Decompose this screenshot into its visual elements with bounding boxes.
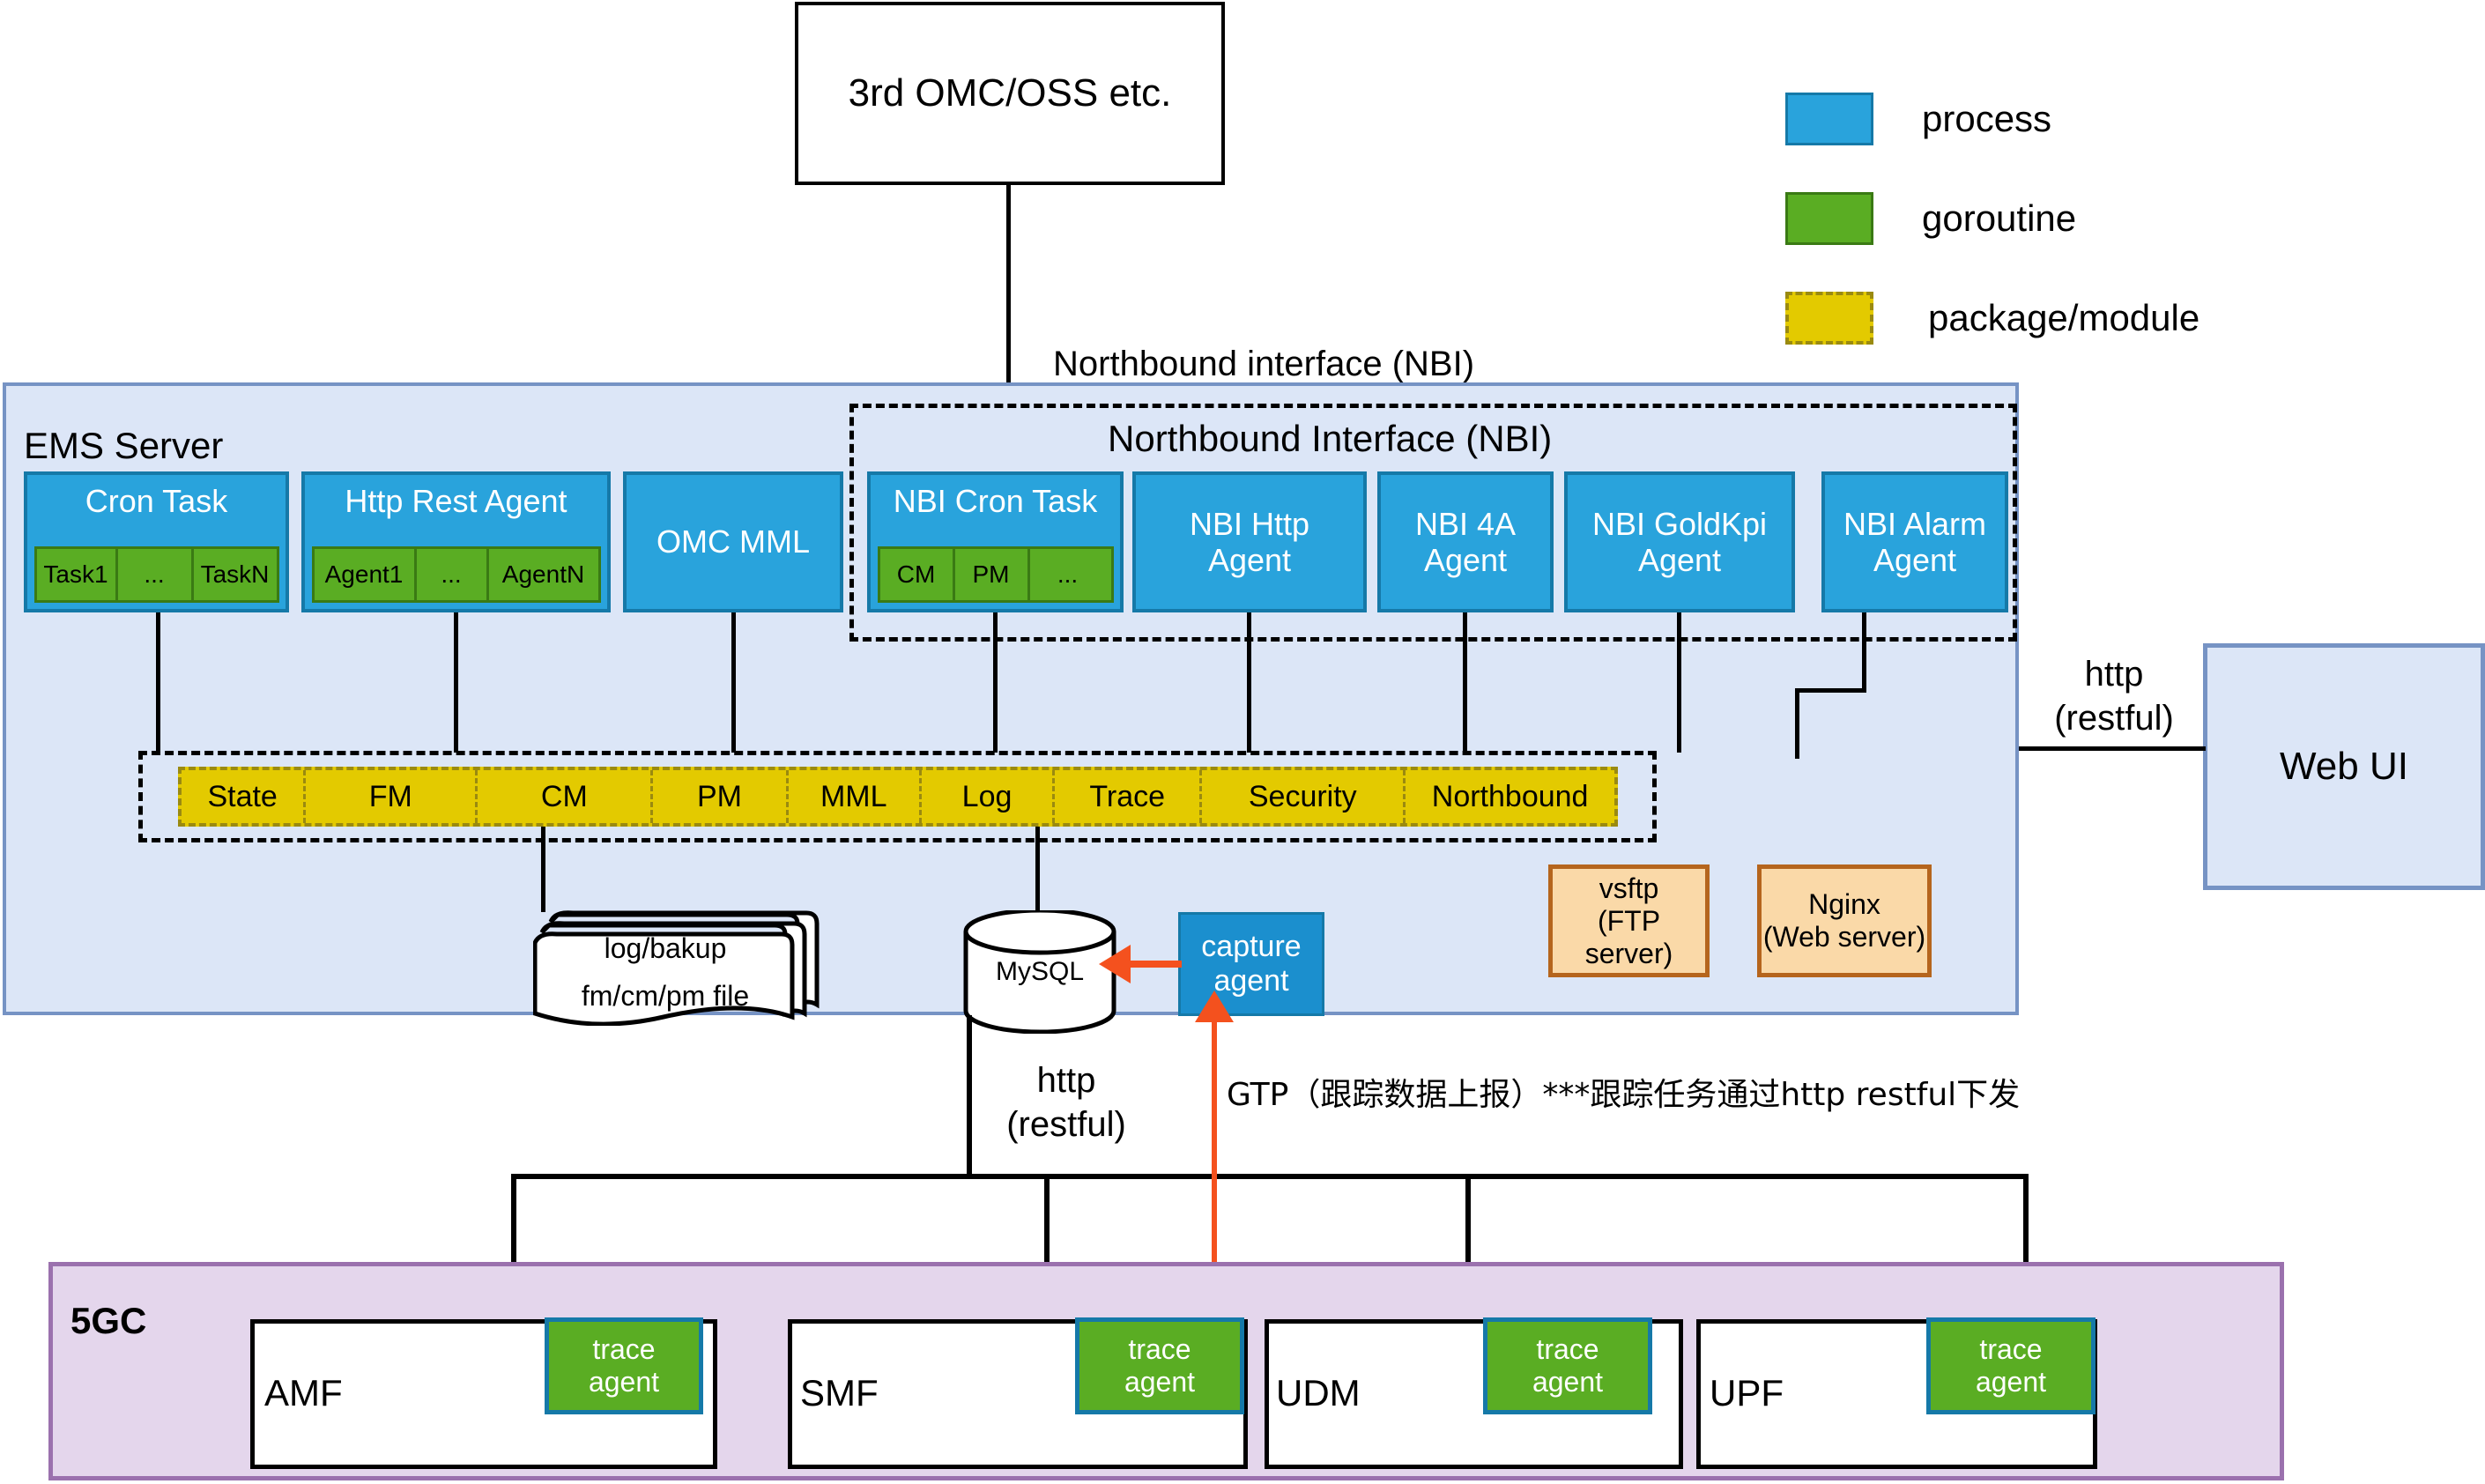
goroutine-pm[interactable]: PM	[955, 549, 1030, 600]
connector-nbi-alarm-agent-v2	[1795, 688, 1799, 759]
vsftp-label-line2: (FTP server)	[1553, 905, 1705, 970]
webui-link-label: http (restful)	[2027, 648, 2201, 745]
connector-cron-task-to-modules-2	[156, 660, 160, 753]
process-cron-task-title: Cron Task	[27, 475, 286, 519]
process-omc-mml-title: OMC MML	[656, 523, 810, 560]
process-nbi-http-agent[interactable]: NBI Http Agent	[1132, 471, 1367, 612]
trace-agent-upf-label: trace agent	[1976, 1333, 2046, 1399]
module-log[interactable]: Log	[922, 770, 1055, 823]
goroutine-agent1[interactable]: Agent1	[315, 549, 417, 600]
legend-label-goroutine: goroutine	[1922, 197, 2076, 240]
connector-nbi-cron-task-to-modules	[993, 612, 998, 753]
ems-server-panel: EMS Server Northbound Interface (NBI) Cr…	[3, 382, 2019, 1015]
external-system-label: 3rd OMC/OSS etc.	[849, 71, 1172, 116]
process-cron-task[interactable]: Cron Task Task1 ... TaskN	[24, 471, 289, 612]
capture-agent-label: capture agent	[1201, 930, 1301, 998]
module-cm[interactable]: CM	[478, 770, 653, 823]
process-nbi-http-agent-title: NBI Http Agent	[1190, 506, 1309, 579]
trace-agent-udm-label: trace agent	[1532, 1333, 1603, 1399]
connector-omc-mml-to-modules	[731, 612, 736, 753]
external-system-box: 3rd OMC/OSS etc.	[795, 2, 1225, 185]
connector-nbi-alarm-agent-v1	[1862, 612, 1866, 688]
process-omc-mml[interactable]: OMC MML	[623, 471, 843, 612]
trace-agent-upf[interactable]: trace agent	[1926, 1317, 2096, 1414]
goroutine-cm[interactable]: CM	[880, 549, 955, 600]
south-http-label: http (restful)	[978, 1054, 1154, 1151]
legend-label-process: process	[1922, 98, 2051, 140]
goroutine-taskn[interactable]: TaskN	[194, 549, 277, 600]
connector-cron-task-to-modules	[156, 612, 160, 660]
web-ui-label: Web UI	[2280, 745, 2408, 790]
database-label: MySQL	[961, 954, 1119, 990]
file-store-label-line2: fm/cm/pm file	[533, 978, 797, 1013]
module-state[interactable]: State	[182, 770, 306, 823]
ems-server-title: EMS Server	[24, 425, 223, 467]
process-http-rest-agent[interactable]: Http Rest Agent Agent1 ... AgentN	[301, 471, 611, 612]
module-bar: State FM CM PM MML Log Trace Security No…	[178, 767, 1618, 827]
trace-agent-smf[interactable]: trace agent	[1075, 1317, 1244, 1414]
nf-label-upf: UPF	[1710, 1372, 1784, 1414]
gc-panel-title: 5GC	[70, 1300, 146, 1342]
process-nbi-goldkpi-agent-title: NBI GoldKpi Agent	[1592, 506, 1767, 579]
arrow-gtp-to-capture-head	[1195, 991, 1234, 1022]
module-trace[interactable]: Trace	[1055, 770, 1202, 823]
trace-agent-amf[interactable]: trace agent	[545, 1317, 703, 1414]
module-northbound[interactable]: Northbound	[1406, 770, 1614, 823]
trace-agent-smf-label: trace agent	[1124, 1333, 1195, 1399]
module-mml[interactable]: MML	[789, 770, 922, 823]
web-ui-box[interactable]: Web UI	[2203, 643, 2485, 890]
process-nbi-goldkpi-agent[interactable]: NBI GoldKpi Agent	[1564, 471, 1795, 612]
nf-label-smf: SMF	[800, 1372, 879, 1414]
diagram-canvas: 3rd OMC/OSS etc. Northbound interface (N…	[0, 0, 2485, 1484]
goroutine-nbi-ellipsis: ...	[1030, 549, 1106, 600]
arrow-capture-to-mysql-head	[1099, 945, 1131, 983]
goroutine-row-nbi-cron-task: CM PM ...	[878, 546, 1114, 603]
connector-oss-to-ems	[1006, 185, 1011, 384]
process-nbi-cron-task[interactable]: NBI Cron Task CM PM ...	[867, 471, 1124, 612]
module-security[interactable]: Security	[1202, 770, 1406, 823]
legend-label-package: package/module	[1928, 297, 2199, 339]
process-nbi-4a-agent-title: NBI 4A Agent	[1415, 506, 1516, 579]
vsftp-server-box: vsftp (FTP server)	[1548, 864, 1710, 977]
module-fm[interactable]: FM	[306, 770, 478, 823]
arrow-capture-to-mysql-line	[1124, 961, 1182, 968]
connector-south-bus	[511, 1174, 2029, 1179]
connector-ems-south-trunk	[967, 1015, 972, 1177]
connector-nbi-alarm-agent-h	[1795, 688, 1866, 693]
file-store-label-line1: log/bakup	[533, 931, 797, 966]
process-nbi-alarm-agent-title: NBI Alarm Agent	[1843, 506, 1986, 579]
vsftp-label-line1: vsftp	[1599, 872, 1659, 905]
connector-to-mysql	[1035, 827, 1040, 915]
webui-link-line1: http	[2085, 652, 2144, 696]
webui-link-line2: (restful)	[2054, 696, 2174, 740]
nbi-link-line1: Northbound interface (NBI)	[1053, 342, 1617, 386]
goroutine-row-cron-task: Task1 ... TaskN	[34, 546, 279, 603]
nginx-label-line1: Nginx	[1808, 888, 1880, 921]
connector-nbi-goldkpi-agent-to-modules	[1677, 612, 1681, 753]
trace-agent-udm[interactable]: trace agent	[1483, 1317, 1652, 1414]
nbi-group-title: Northbound Interface (NBI)	[1108, 418, 1552, 460]
connector-ems-to-webui	[2019, 746, 2206, 751]
gtp-note-label: GTP（跟踪数据上报）***跟踪任务通过http restful下发	[1227, 1069, 2020, 1115]
south-http-line2: (restful)	[1006, 1102, 1126, 1146]
nf-label-amf: AMF	[264, 1372, 343, 1414]
module-pm[interactable]: PM	[653, 770, 788, 823]
process-nbi-4a-agent[interactable]: NBI 4A Agent	[1377, 471, 1554, 612]
connector-nbi-http-agent-to-modules	[1247, 612, 1251, 753]
process-nbi-cron-task-title: NBI Cron Task	[871, 475, 1120, 519]
nf-label-udm: UDM	[1276, 1372, 1361, 1414]
process-nbi-alarm-agent[interactable]: NBI Alarm Agent	[1821, 471, 2008, 612]
legend-swatch-process	[1785, 93, 1873, 145]
goroutine-row-http-rest-agent: Agent1 ... AgentN	[312, 546, 601, 603]
trace-agent-amf-label: trace agent	[589, 1333, 659, 1399]
connector-nbi-4a-agent-to-modules	[1463, 612, 1467, 753]
goroutine-agent-ellipsis: ...	[417, 549, 489, 600]
legend-swatch-package	[1785, 292, 1873, 345]
goroutine-task-ellipsis: ...	[118, 549, 194, 600]
process-http-rest-agent-title: Http Rest Agent	[305, 475, 607, 519]
legend-swatch-goroutine	[1785, 192, 1873, 245]
legend: process goroutine package/module	[1785, 93, 2314, 348]
goroutine-task1[interactable]: Task1	[37, 549, 118, 600]
nginx-label-line2: (Web server)	[1763, 921, 1925, 953]
connector-http-rest-agent-to-modules	[454, 612, 458, 753]
nginx-server-box: Nginx (Web server)	[1757, 864, 1932, 977]
south-http-line1: http	[1037, 1058, 1096, 1102]
goroutine-agentn[interactable]: AgentN	[489, 549, 598, 600]
connector-log-to-filestore	[541, 827, 545, 912]
